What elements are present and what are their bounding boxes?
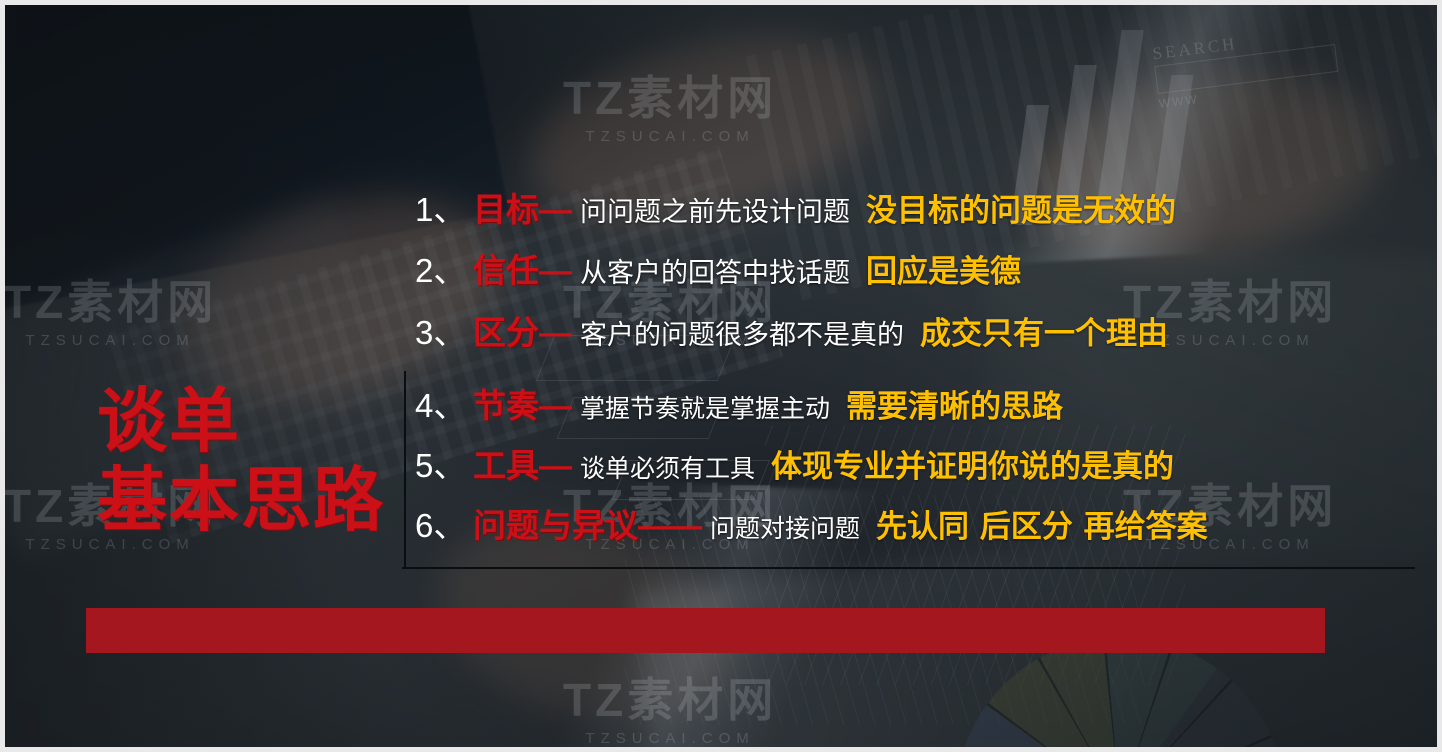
list-item-number: 2、 xyxy=(415,254,473,287)
list-item-keyword: 信任 xyxy=(473,254,539,287)
list-item: 1、 目标 — 问问题之前先设计问题 没目标的问题是无效的 xyxy=(415,193,1176,227)
bottom-red-bar xyxy=(86,608,1325,653)
list-item-highlight: 先认同 后区分 再给答案 xyxy=(876,512,1208,543)
list-item: 2、 信任 — 从客户的回答中找话题 回应是美德 xyxy=(415,254,1021,288)
slide-title: 谈单 基本思路 xyxy=(97,388,397,534)
list-item-desc: 从客户的回答中找话题 xyxy=(580,260,850,287)
list-item-dash: — xyxy=(539,389,570,422)
list-item-number: 4、 xyxy=(415,389,473,422)
list-item-number: 6、 xyxy=(415,509,473,542)
list-item-keyword: 区分 xyxy=(473,316,539,349)
list-item-keyword: 问题与异议 xyxy=(473,509,638,542)
list-item-dash: — xyxy=(539,449,570,482)
list-item: 3、 区分 — 客户的问题很多都不是真的 成交只有一个理由 xyxy=(415,316,1168,350)
list-item-dash: — xyxy=(539,254,570,287)
slide-title-line-2: 基本思路 xyxy=(97,467,397,534)
list-item: 5、 工具 — 谈单必须有工具 体现专业并证明你说的是真的 xyxy=(415,449,1174,483)
list-item-highlight: 成交只有一个理由 xyxy=(920,319,1168,350)
list-item-dash: — xyxy=(539,193,570,226)
list-item-desc: 谈单必须有工具 xyxy=(580,456,755,481)
list-item: 4、 节奏 — 掌握节奏就是掌握主动 需要清晰的思路 xyxy=(415,389,1063,423)
list-item-number: 1、 xyxy=(415,193,473,226)
list-item-desc: 问问题之前先设计问题 xyxy=(580,199,850,226)
list-item-number: 5、 xyxy=(415,449,473,482)
list-item-dash: —— xyxy=(638,509,700,542)
list-item-highlight: 需要清晰的思路 xyxy=(846,392,1063,423)
horizontal-divider-line xyxy=(402,567,1415,569)
list-item-highlight: 没目标的问题是无效的 xyxy=(866,196,1176,227)
list-item-keyword: 工具 xyxy=(473,449,539,482)
list-item: 6、 问题与异议 —— 问题对接问题 先认同 后区分 再给答案 xyxy=(415,509,1208,543)
list-item-desc: 客户的问题很多都不是真的 xyxy=(580,322,904,349)
slide-title-line-1: 谈单 xyxy=(97,388,397,455)
list-item-desc: 问题对接问题 xyxy=(710,516,860,541)
list-item-highlight: 回应是美德 xyxy=(866,257,1021,288)
list-item-highlight: 体现专业并证明你说的是真的 xyxy=(771,452,1174,483)
list-item-number: 3、 xyxy=(415,316,473,349)
presentation-slide: SEARCH WWW TZ素材网 TZSUCAI.COM TZ素材网 TZSUC… xyxy=(0,0,1442,752)
vertical-divider-line xyxy=(404,371,406,569)
list-item-keyword: 目标 xyxy=(473,193,539,226)
list-item-desc: 掌握节奏就是掌握主动 xyxy=(580,396,830,421)
list-item-keyword: 节奏 xyxy=(473,389,539,422)
list-item-dash: — xyxy=(539,316,570,349)
